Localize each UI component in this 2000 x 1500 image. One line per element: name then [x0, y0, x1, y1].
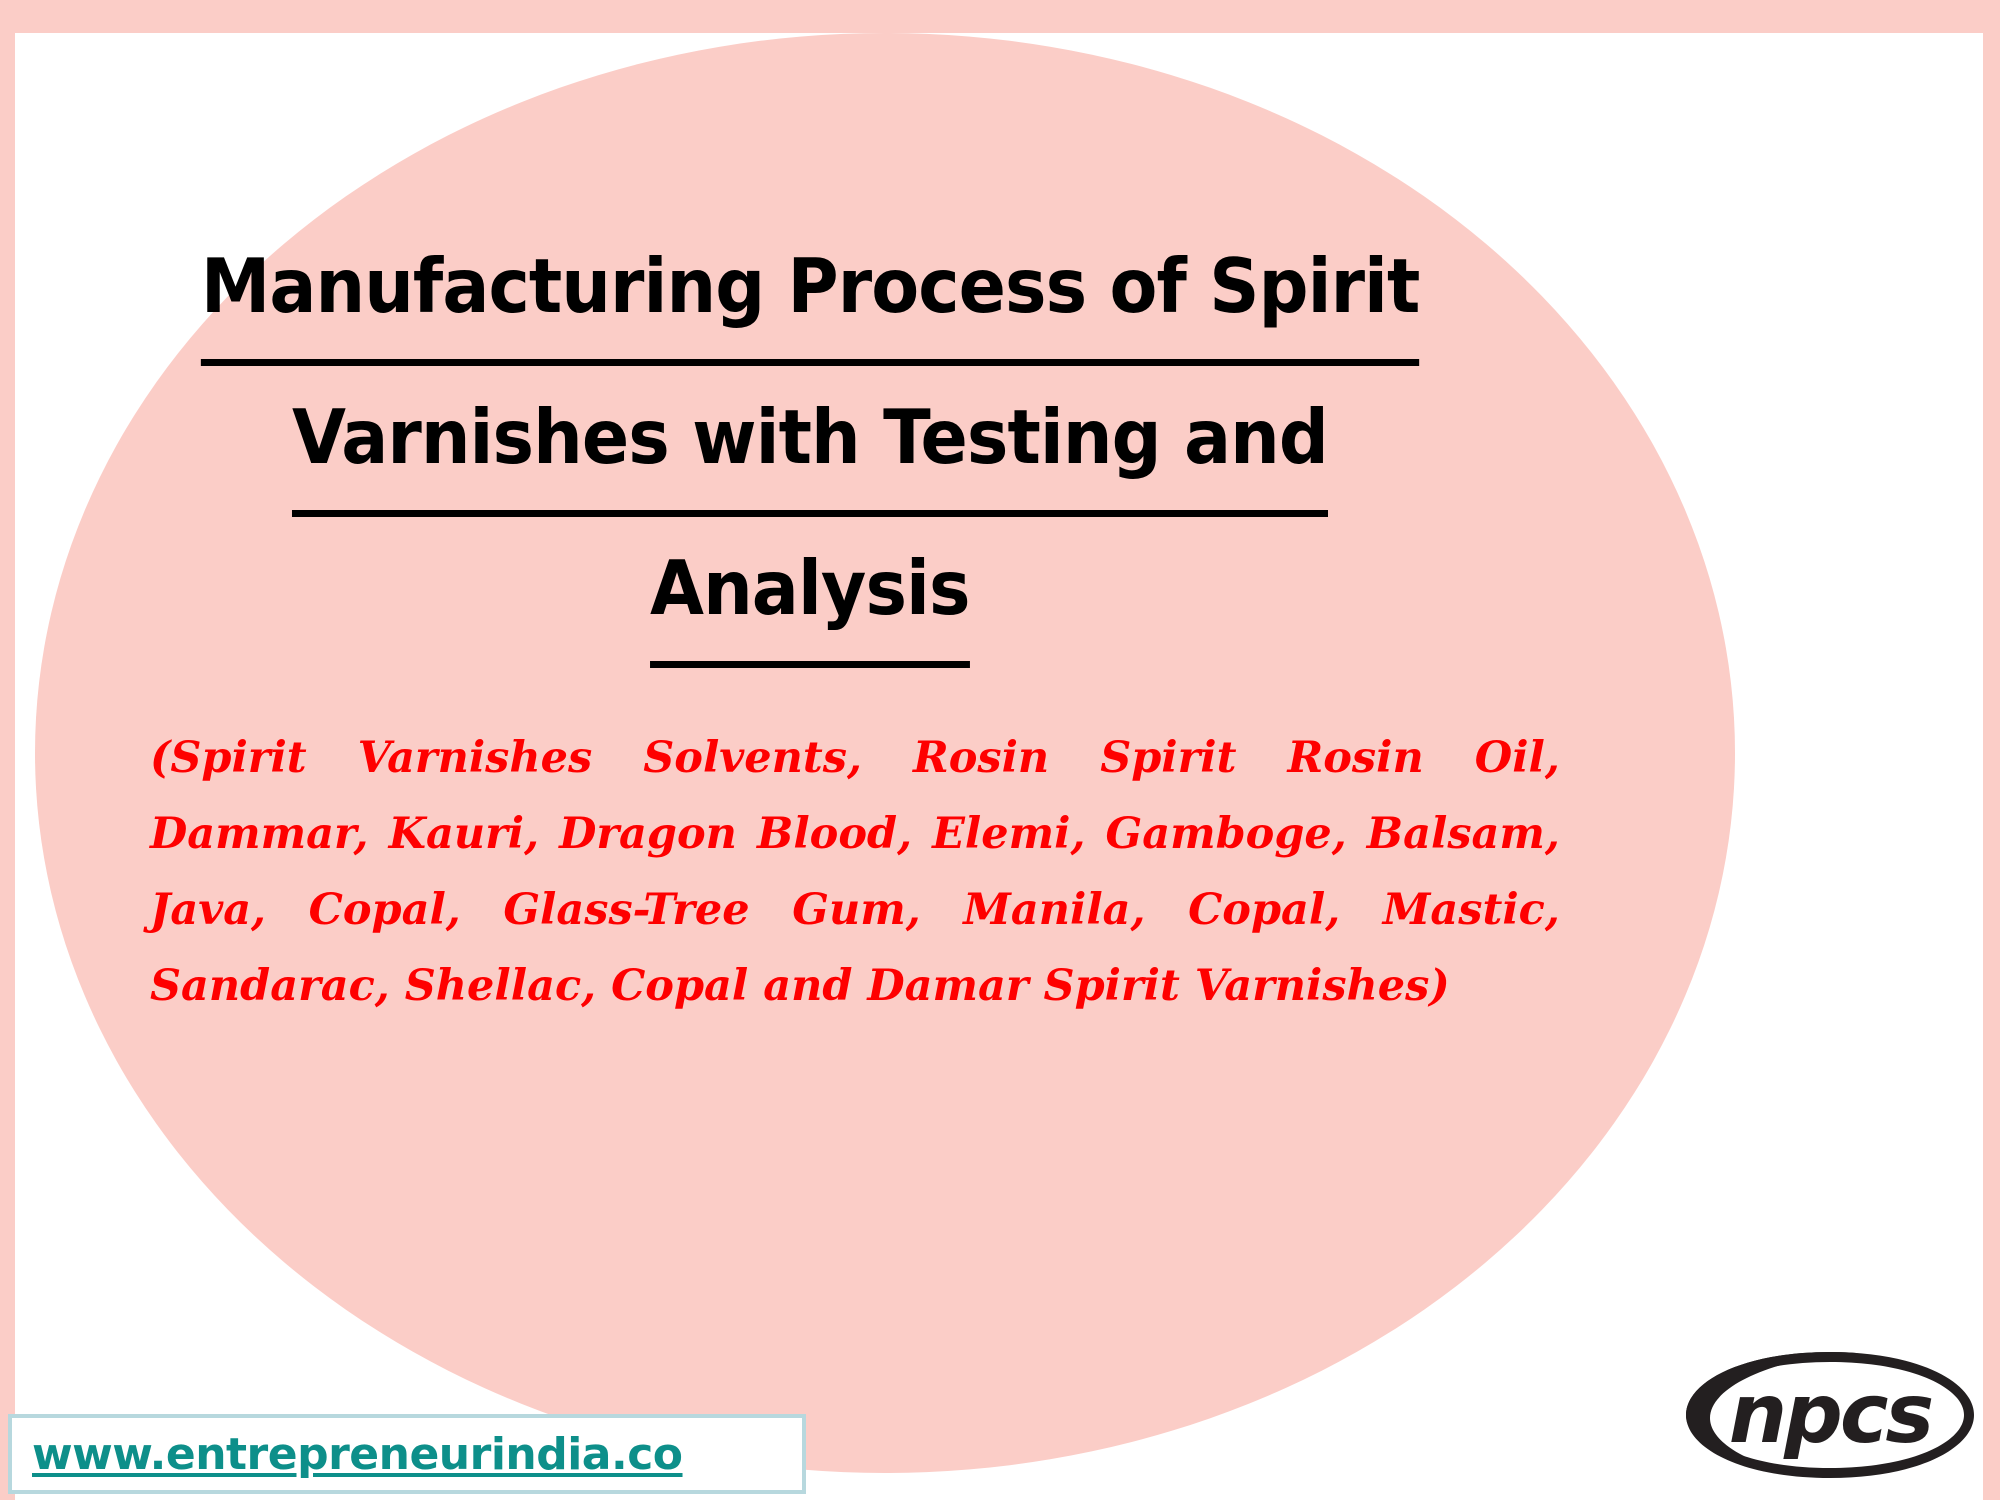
subtitle-block: (Spirit Varnishes Solvents, Rosin Spirit…	[150, 720, 1470, 1024]
website-url-link[interactable]: www.entrepreneurindia.co	[12, 1429, 683, 1480]
slide-canvas: Manufacturing Process of Spirit Varnishe…	[0, 0, 2000, 1500]
subtitle-line-1: (Spirit Varnishes Solvents, Rosin Spirit…	[150, 720, 1470, 796]
subtitle-line-4: Sandarac, Shellac, Copal and Damar Spiri…	[150, 948, 1470, 1024]
title-line-3-text: Analysis	[650, 517, 970, 668]
title-line-2: Varnishes with Testing and	[150, 366, 1470, 517]
frame-band-top	[0, 0, 2000, 33]
npcs-logo: npcs	[1680, 1340, 1980, 1490]
page-title: Manufacturing Process of Spirit Varnishe…	[150, 215, 1470, 668]
npcs-logo-wordmark: npcs	[1729, 1367, 1932, 1462]
title-line-2-text: Varnishes with Testing and	[292, 366, 1328, 517]
title-line-3: Analysis	[150, 517, 1470, 668]
title-line-1-text: Manufacturing Process of Spirit	[201, 215, 1420, 366]
frame-band-right	[1983, 0, 2000, 1500]
website-url-box[interactable]: www.entrepreneurindia.co	[8, 1414, 806, 1494]
subtitle-line-2: Dammar, Kauri, Dragon Blood, Elemi, Gamb…	[150, 796, 1470, 872]
title-line-1: Manufacturing Process of Spirit	[150, 215, 1470, 366]
subtitle-line-3: Java, Copal, Glass-Tree Gum, Manila, Cop…	[150, 872, 1470, 948]
frame-band-left	[0, 0, 15, 1500]
slide-content: Manufacturing Process of Spirit Varnishe…	[150, 215, 1470, 1024]
